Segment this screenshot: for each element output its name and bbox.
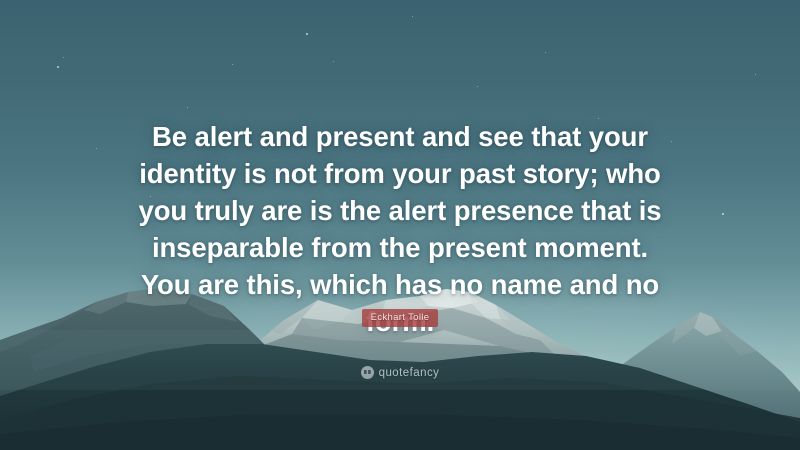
quotefancy-watermark[interactable]: quotefancy bbox=[0, 366, 800, 379]
quotefancy-brand-label: quotefancy bbox=[379, 367, 440, 379]
quote-wallpaper: Be alert and present and see that your i… bbox=[0, 0, 800, 450]
quote-mark-circle-icon bbox=[361, 366, 374, 379]
author-name-badge[interactable]: Eckhart Tolle bbox=[362, 309, 439, 327]
author-attribution: Eckhart Tolle bbox=[0, 307, 800, 327]
